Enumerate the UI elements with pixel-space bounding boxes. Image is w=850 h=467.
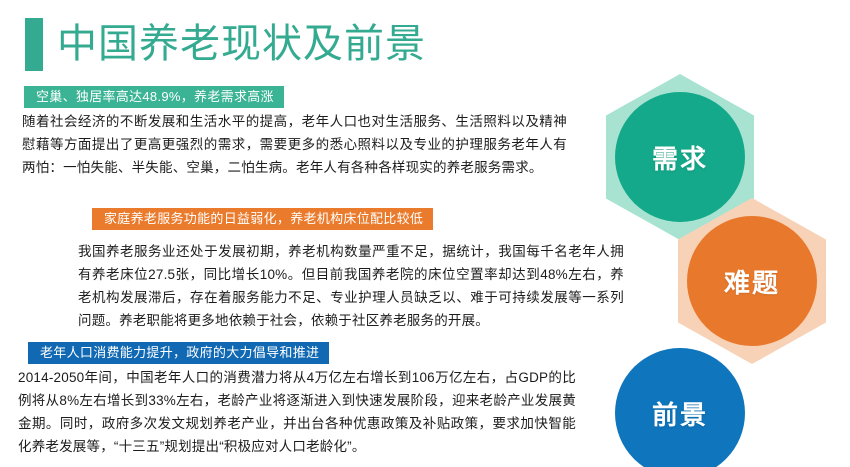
section-body-problem: 我国养老服务业还处于发展初期，养老机构数量严重不足，据统计，我国每千名老年人拥有… <box>78 240 624 332</box>
title-accent-bar <box>25 18 43 71</box>
badge-circle: 难题 <box>687 216 817 346</box>
badge-label: 需求 <box>652 139 708 176</box>
title-text: 中国养老现状及前景 <box>57 22 426 66</box>
slide-canvas: 中国养老现状及前景 空巢、独居率高达48.9%，养老需求高涨 随着社会经济的不断… <box>0 0 850 467</box>
section-body-demand: 随着社会经济的不断发展和生活水平的提高，老年人口也对生活服务、生活照料以及精神慰… <box>22 110 567 179</box>
section-banner-demand: 空巢、独居率高达48.9%，养老需求高涨 <box>24 86 284 108</box>
page-title: 中国养老现状及前景 <box>25 16 426 72</box>
section-banner-prospect: 老年人口消费能力提升，政府的大力倡导和推进 <box>28 342 329 364</box>
badge-label: 前景 <box>652 395 708 432</box>
badge-prospect: 前景 <box>606 330 754 467</box>
badge-label: 难题 <box>724 263 780 300</box>
section-banner-problem: 家庭养老服务功能的日益弱化，养老机构床位配比较低 <box>92 208 433 230</box>
section-body-prospect: 2014-2050年间，中国老年人口的消费潜力将从4万亿左右增长到106万亿左右… <box>18 366 576 458</box>
badge-circle: 前景 <box>615 348 745 467</box>
